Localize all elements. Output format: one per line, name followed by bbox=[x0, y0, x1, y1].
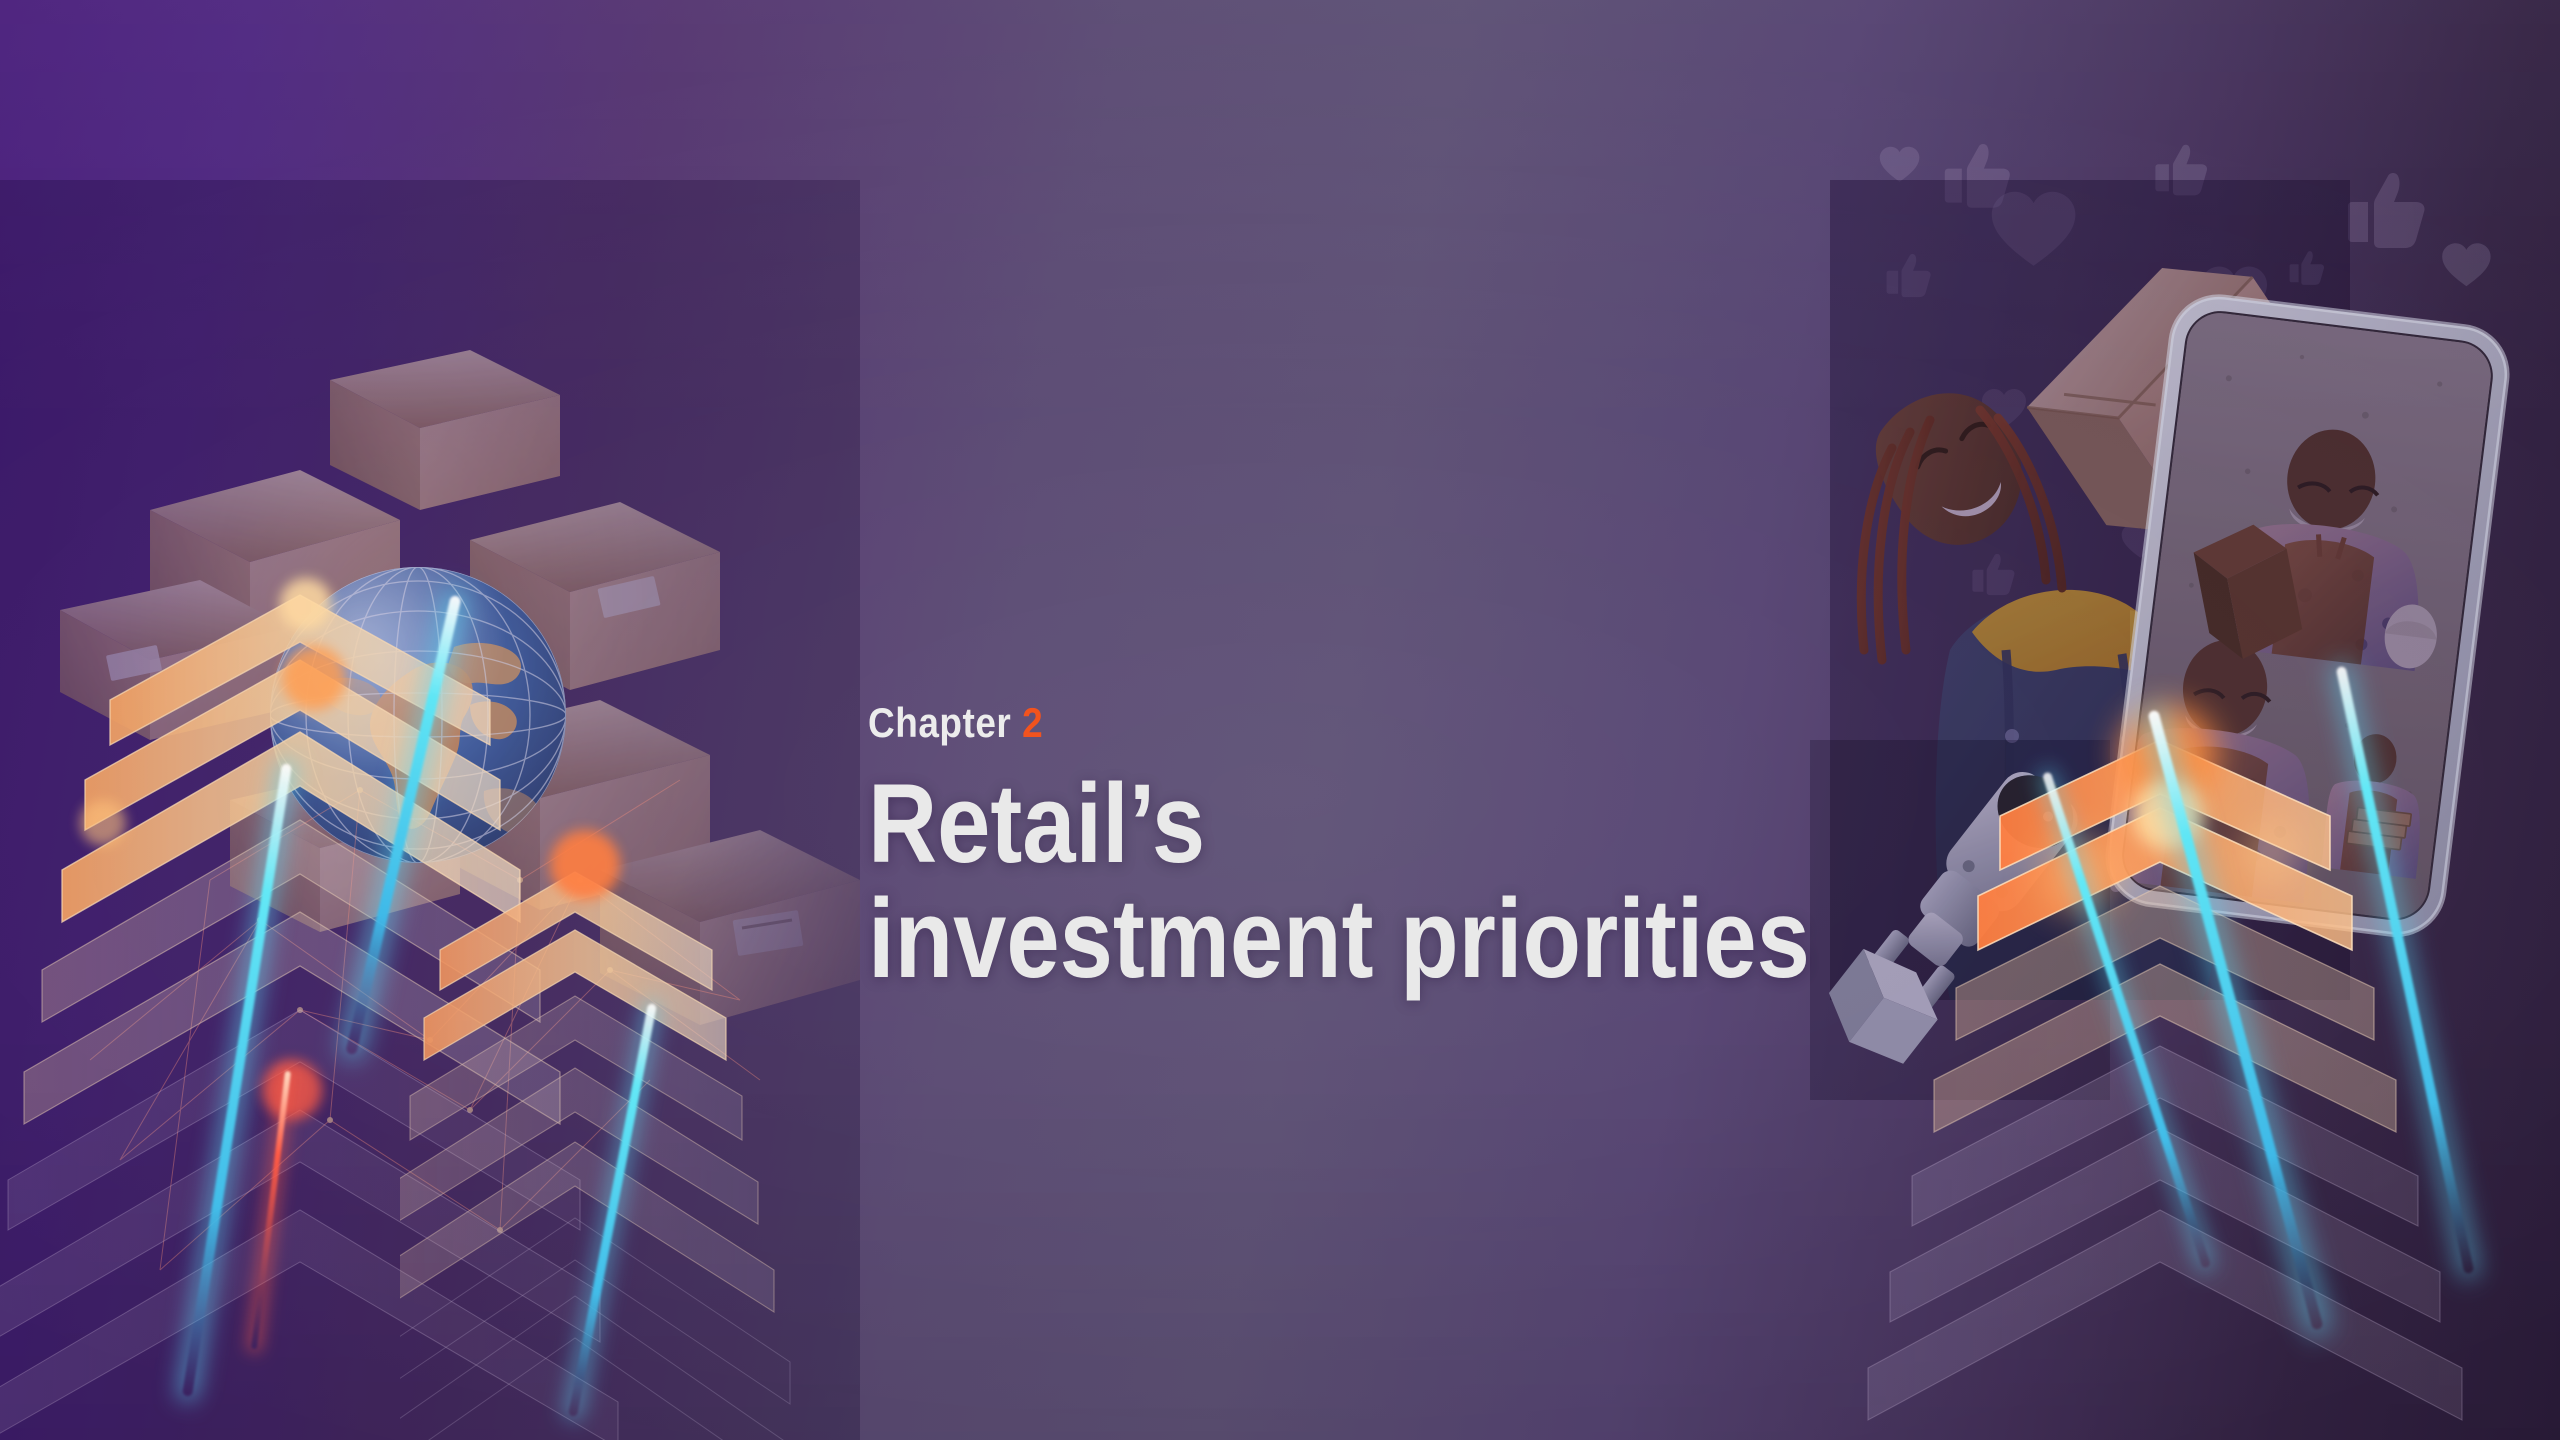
chevron-apex-glow bbox=[550, 830, 620, 900]
red-light-beam bbox=[251, 1071, 291, 1350]
cyan-light-beam bbox=[345, 595, 461, 1055]
chapter-eyebrow: Chapter 2 bbox=[868, 702, 1837, 744]
reaction-icons-cluster bbox=[1820, 120, 2560, 740]
headline-line-1: Retail’s bbox=[868, 766, 1810, 881]
chapter-divider-slide: Chapter 2 Retail’s investment priorities bbox=[0, 0, 2560, 1440]
page-title: Retail’s investment priorities bbox=[868, 766, 1810, 997]
chevron-apex-glow bbox=[262, 1060, 322, 1120]
chevron-apex-glow bbox=[80, 800, 126, 846]
network-mesh-overlay bbox=[0, 180, 860, 1440]
bokeh-glow bbox=[2240, 820, 2304, 884]
cyan-light-beam bbox=[2147, 709, 2323, 1330]
left-collage bbox=[0, 180, 860, 1440]
chapter-label: Chapter bbox=[868, 699, 1011, 746]
slide-text-block: Chapter 2 Retail’s investment priorities bbox=[868, 702, 1970, 997]
headline-line-2: investment priorities bbox=[868, 881, 1810, 996]
chevron-apex-glow bbox=[280, 578, 332, 630]
chevron-apex-glow bbox=[282, 646, 346, 710]
cardboard-parcel-stack bbox=[0, 180, 860, 1440]
cyan-light-beam bbox=[182, 763, 292, 1397]
cyan-light-beam bbox=[2336, 666, 2475, 1275]
ascending-chevron-arrows-secondary bbox=[400, 800, 920, 1440]
ascending-chevron-arrows bbox=[0, 180, 860, 1440]
chapter-number: 2 bbox=[1022, 699, 1043, 746]
smartphone-with-shopkeepers bbox=[2092, 280, 2527, 959]
wireframe-globe bbox=[258, 555, 578, 875]
cyan-light-beam bbox=[568, 1003, 657, 1417]
